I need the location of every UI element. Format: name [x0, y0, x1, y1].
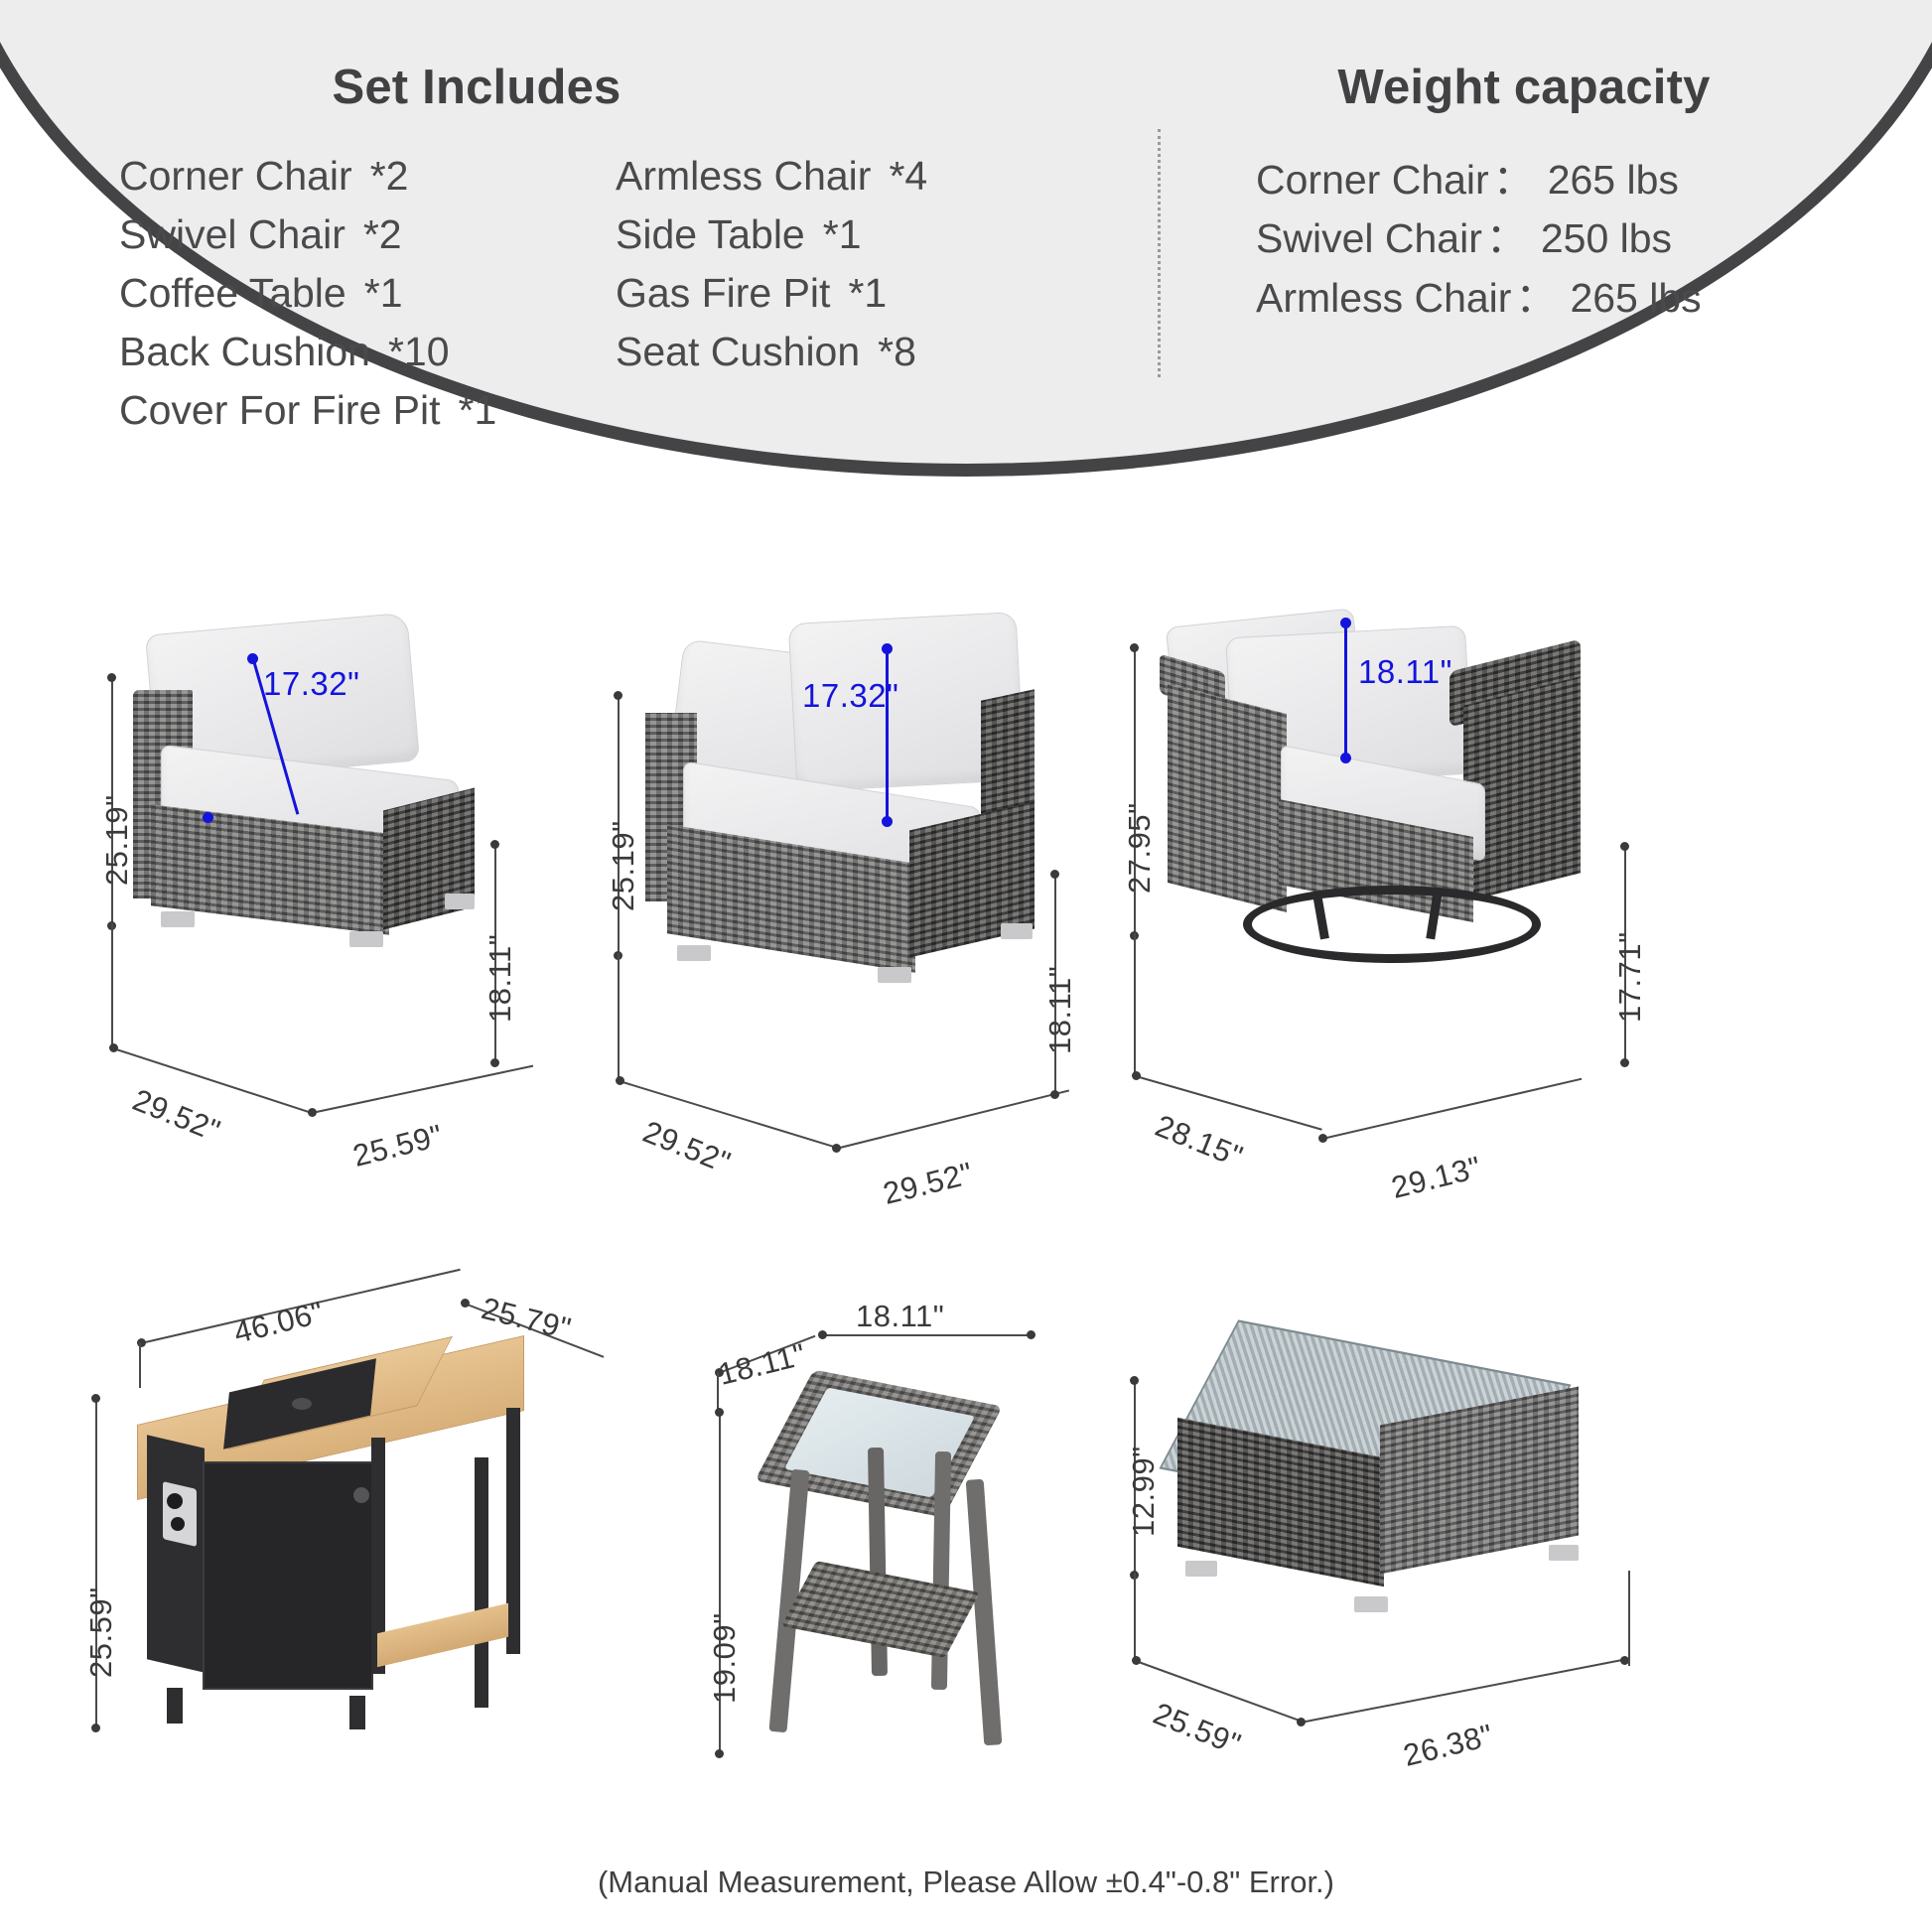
- firepit-height-line: [95, 1398, 97, 1727]
- swivel-depth-ext: [1134, 933, 1136, 1077]
- include-qty: *4: [889, 153, 927, 199]
- diagram-side-table: 18.11" 18.11" 19.09": [695, 1311, 1132, 1787]
- sidetable-width-dim: 18.11": [856, 1299, 944, 1334]
- armless-seat-height-dim: 18.11": [483, 934, 518, 1023]
- include-label: Swivel Chair: [119, 211, 345, 257]
- weight-value: 265 lbs: [1548, 151, 1679, 209]
- firepit-leg-right-rear: [506, 1408, 520, 1654]
- sidetable-height-dim: 19.09": [707, 1612, 743, 1704]
- armless-foot-mid: [349, 931, 383, 947]
- swivel-measure-dot-top: [1340, 618, 1351, 628]
- swivel-back-cushion-dim: 18.11": [1358, 653, 1452, 691]
- include-label: Side Table: [616, 211, 805, 257]
- diagram-corner-chair: 17.32" 25.19" 29.52" 29.52" 18.11": [606, 596, 1162, 1013]
- sidetable-height-dot-bottom: [715, 1749, 724, 1758]
- include-label: Gas Fire Pit: [616, 270, 830, 316]
- swivel-seat-dot-top: [1620, 842, 1629, 851]
- include-label: Armless Chair: [616, 153, 871, 199]
- firepit-height-dot-bottom: [91, 1724, 100, 1732]
- sidetable-width-dot-b: [1027, 1330, 1035, 1339]
- armless-depth-dot-a: [109, 1043, 118, 1052]
- include-qty: *2: [370, 153, 409, 199]
- armless-foot-left: [161, 911, 195, 927]
- coffeetable-width-ext-right: [1628, 1571, 1630, 1666]
- include-qty: *8: [878, 329, 916, 374]
- list-item: Cover For Fire Pit*1: [119, 385, 1112, 435]
- list-item: Swivel Chair*2: [119, 209, 616, 259]
- diagram-armless-chair: 17.32" 25.19" 29.52" 25.59" 18.11": [99, 596, 616, 1013]
- armless-width-line: [312, 1065, 533, 1114]
- corner-depth-dim: 29.52": [638, 1114, 736, 1181]
- list-item: Corner Chair ： 265 lbs: [1256, 151, 1871, 209]
- include-qty: *1: [848, 270, 887, 316]
- coffeetable-depth-ext: [1134, 1573, 1136, 1662]
- coffeetable-depth-dim: 25.59": [1149, 1696, 1246, 1763]
- weight-value: 250 lbs: [1541, 209, 1672, 268]
- coffeetable-height-dot-top: [1130, 1376, 1139, 1385]
- weight-value: 265 lbs: [1570, 269, 1701, 328]
- header-panel: Set Includes Corner Chair*2 Armless Chai…: [0, 0, 1932, 596]
- weight-colon: ：: [1489, 151, 1538, 209]
- coffeetable-depth-dot-a: [1132, 1656, 1141, 1665]
- include-qty: *10: [388, 329, 450, 374]
- product-spec-sheet: Set Includes Corner Chair*2 Armless Chai…: [0, 0, 1932, 1932]
- list-item: Armless Chair ： 265 lbs: [1256, 269, 1871, 328]
- armless-foot-right: [445, 894, 475, 909]
- include-label: Back Cushion: [119, 329, 370, 374]
- sidetable-width-dot-a: [818, 1330, 827, 1339]
- swivel-depth-dim: 28.15": [1151, 1108, 1248, 1175]
- armless-height-dot-top: [107, 673, 116, 682]
- sidetable-leg-front-right: [966, 1479, 1003, 1746]
- include-label: Cover For Fire Pit: [119, 387, 441, 433]
- weight-colon: ：: [1511, 269, 1560, 328]
- coffeetable-width-dim: 26.38": [1400, 1718, 1497, 1774]
- include-label: Coffee Table: [119, 270, 346, 316]
- weight-label: Armless Chair: [1256, 269, 1511, 328]
- firepit-foot-left: [167, 1688, 183, 1724]
- include-qty: *1: [823, 211, 862, 257]
- firepit-depth-dot-a: [461, 1299, 470, 1308]
- swivel-measure-dot-bottom: [1340, 753, 1351, 763]
- set-includes-title: Set Includes: [139, 60, 814, 115]
- firepit-control-knob-lower: [171, 1517, 185, 1531]
- swivel-seat-height-dim: 17.71": [1612, 931, 1648, 1023]
- corner-foot-mid: [878, 967, 911, 983]
- corner-back-cushion-measure-line: [886, 647, 889, 821]
- swivel-arm-left: [1168, 684, 1287, 912]
- corner-seat-height-dim: 18.11": [1042, 966, 1078, 1054]
- weight-capacity-section: Weight capacity Corner Chair ： 265 lbs S…: [1256, 60, 1871, 328]
- swivel-width-dot-a: [1318, 1134, 1327, 1143]
- corner-height-dim: 25.19": [606, 820, 641, 911]
- armless-measure-dot-top: [247, 653, 258, 664]
- measurement-disclaimer: (Manual Measurement, Please Allow ±0.4"-…: [0, 1864, 1932, 1900]
- coffeetable-height-dim: 12.99": [1126, 1446, 1162, 1537]
- corner-depth-ext: [618, 953, 620, 1082]
- firepit-leg-right-front: [475, 1457, 488, 1708]
- armless-depth-dim: 29.52": [128, 1082, 225, 1150]
- swivel-height-dot-top: [1130, 643, 1139, 652]
- list-item: Seat Cushion*8: [616, 327, 1112, 376]
- list-item: Side Table*1: [616, 209, 1112, 259]
- include-qty: *2: [363, 211, 402, 257]
- firepit-height-dim: 25.59": [83, 1587, 119, 1678]
- armless-seat-dot-bottom: [490, 1058, 499, 1067]
- firepit-depth-dim: 25.79": [478, 1291, 575, 1347]
- swivel-width-dim: 29.13": [1388, 1150, 1485, 1206]
- list-item: Armless Chair*4: [616, 151, 1112, 201]
- list-item: Swivel Chair ： 250 lbs: [1256, 209, 1871, 268]
- sidetable-height-dot-top: [715, 1408, 724, 1417]
- corner-measure-dot-top: [882, 643, 893, 654]
- swivel-seat-dot-bottom: [1620, 1058, 1629, 1067]
- corner-width-dim: 29.52": [880, 1156, 977, 1212]
- swivel-base-ring: [1243, 886, 1541, 963]
- swivel-back-cushion-measure-line: [1344, 621, 1347, 757]
- firepit-burner-hole: [292, 1398, 312, 1410]
- header-content: Set Includes Corner Chair*2 Armless Chai…: [0, 0, 1932, 467]
- firepit-length-ext-left: [139, 1342, 141, 1388]
- coffeetable-foot-left: [1185, 1561, 1217, 1577]
- weight-colon: ：: [1482, 209, 1531, 268]
- corner-depth-dot-a: [616, 1076, 624, 1085]
- include-label: Seat Cushion: [616, 329, 860, 374]
- list-item: Gas Fire Pit*1: [616, 268, 1112, 318]
- sidetable-depth-dim: 18.11": [715, 1336, 809, 1393]
- coffeetable-foot-mid: [1354, 1596, 1388, 1612]
- include-qty: *1: [459, 387, 497, 433]
- swivel-height-dim: 27.95": [1122, 802, 1158, 894]
- corner-foot-left: [677, 945, 711, 961]
- list-item: Corner Chair*2: [119, 151, 616, 201]
- product-diagrams: 17.32" 25.19" 29.52" 25.59" 18.11": [0, 596, 1932, 1817]
- diagram-coffee-table: 12.99" 25.59" 26.38": [1112, 1311, 1727, 1737]
- firepit-door-knob: [353, 1487, 369, 1503]
- firepit-foot-mid: [349, 1696, 365, 1729]
- corner-foot-right: [1001, 923, 1033, 939]
- firepit-lower-shelf: [377, 1603, 508, 1667]
- armless-seat-dot-top: [490, 840, 499, 849]
- corner-seat-dot-top: [1050, 870, 1059, 879]
- diagram-swivel-chair: 18.11" 27.95" 28.15" 29.13" 17.71": [1122, 596, 1737, 1023]
- coffeetable-foot-right: [1549, 1545, 1579, 1561]
- sidetable-lower-shelf: [781, 1561, 980, 1658]
- corner-width-dot-a: [832, 1144, 841, 1153]
- firepit-length-dim: 46.06": [230, 1295, 328, 1351]
- firepit-body-left: [147, 1435, 205, 1672]
- swivel-depth-dot-a: [1132, 1071, 1141, 1080]
- diagram-gas-fire-pit: 46.06" 25.79" 25.59": [79, 1291, 675, 1787]
- armless-depth-ext: [111, 923, 113, 1048]
- corner-back-cushion-dim: 17.32": [802, 677, 898, 715]
- firepit-cabinet-door: [203, 1461, 373, 1690]
- set-includes-section: Set Includes Corner Chair*2 Armless Chai…: [119, 60, 1152, 435]
- armless-width-dot-a: [308, 1108, 317, 1117]
- firepit-control-knob-upper: [167, 1493, 183, 1509]
- weight-label: Corner Chair: [1256, 151, 1489, 209]
- coffeetable-width-line: [1301, 1659, 1624, 1724]
- weight-label: Swivel Chair: [1256, 209, 1482, 268]
- section-divider: [1158, 129, 1161, 377]
- armless-measure-dot-bottom: [203, 812, 213, 823]
- armless-width-dim: 25.59": [349, 1118, 447, 1174]
- corner-seat-dot-bottom: [1050, 1090, 1059, 1099]
- firepit-control-panel: [163, 1481, 197, 1547]
- firepit-height-dot-top: [91, 1394, 100, 1403]
- armless-back-cushion-dim: 17.32": [263, 665, 359, 703]
- corner-width-line: [836, 1089, 1069, 1149]
- corner-height-dot-top: [614, 691, 622, 700]
- coffeetable-width-dot-a: [1297, 1718, 1306, 1726]
- list-item: Coffee Table*1: [119, 268, 616, 318]
- weight-capacity-list: Corner Chair ： 265 lbs Swivel Chair ： 25…: [1256, 151, 1871, 328]
- include-qty: *1: [364, 270, 403, 316]
- sidetable-width-line: [822, 1334, 1031, 1336]
- weight-capacity-title: Weight capacity: [1256, 60, 1792, 115]
- swivel-width-line: [1322, 1078, 1583, 1140]
- set-includes-list: Corner Chair*2 Armless Chair*4 Swivel Ch…: [119, 151, 1152, 435]
- corner-measure-dot-bottom: [882, 816, 893, 827]
- armless-height-dim: 25.19": [99, 794, 135, 886]
- include-label: Corner Chair: [119, 153, 352, 199]
- list-item: Back Cushion*10: [119, 327, 616, 376]
